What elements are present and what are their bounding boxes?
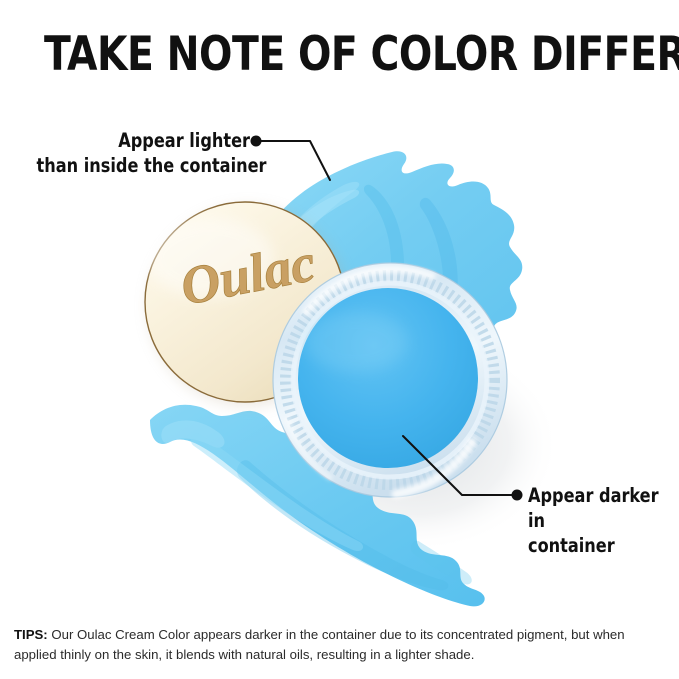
- tips-label: TIPS:: [14, 627, 48, 642]
- annotation-darker-line2: container: [528, 533, 666, 558]
- annotation-lighter-line2: than inside the container: [37, 153, 250, 178]
- cream-highlight: [304, 312, 408, 372]
- leader-dot-darker: [512, 490, 523, 501]
- annotation-darker-line1: Appear darker in: [528, 483, 666, 533]
- leader-dot-lighter: [251, 136, 262, 147]
- annotation-appear-lighter: Appear lighter than inside the container: [37, 128, 250, 178]
- jar-cream-surface: [298, 288, 478, 468]
- tips-body: Our Oulac Cream Color appears darker in …: [14, 627, 625, 662]
- infographic-page: TAKE NOTE OF COLOR DIFFERENCES...: [0, 0, 679, 679]
- page-title: TAKE NOTE OF COLOR DIFFERENCES...: [44, 28, 611, 82]
- annotation-lighter-line1: Appear lighter: [37, 128, 250, 153]
- annotation-appear-darker: Appear darker in container: [528, 483, 666, 558]
- tips-footer: TIPS: Our Oulac Cream Color appears dark…: [14, 625, 666, 664]
- product-jar: [273, 263, 507, 497]
